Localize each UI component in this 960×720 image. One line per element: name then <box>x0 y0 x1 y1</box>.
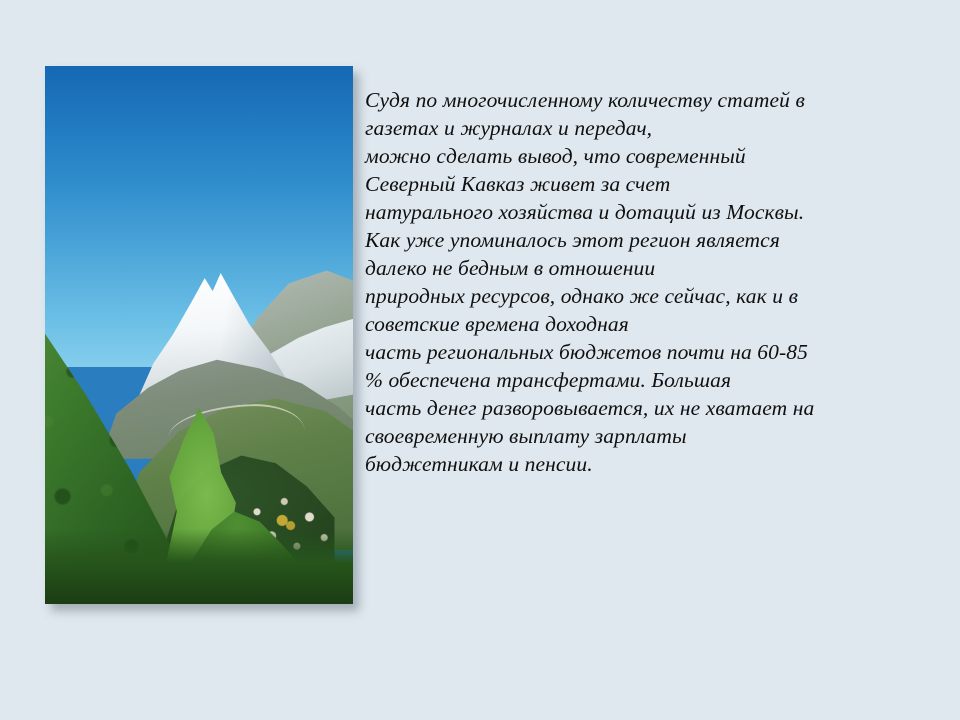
foreground-shadow <box>45 529 353 604</box>
text-line: своевременную выплату зарплаты <box>365 422 905 450</box>
text-line: Судя по многочисленному количеству стате… <box>365 86 905 114</box>
text-line: Северный Кавказ живет за счет <box>365 170 905 198</box>
text-line: Как уже упоминалось этот регион является <box>365 226 905 254</box>
text-line: природных ресурсов, однако же сейчас, ка… <box>365 282 905 310</box>
text-line: далеко не бедным в отношении <box>365 254 905 282</box>
photo-frame <box>45 66 353 604</box>
text-line: % обеспечена трансфертами. Большая <box>365 366 905 394</box>
text-line: бюджетникам и пенсии. <box>365 450 905 478</box>
text-line: советские времена доходная <box>365 310 905 338</box>
caucasus-mountain-valley-photo <box>45 66 353 604</box>
presentation-slide: Судя по многочисленному количеству стате… <box>0 0 960 720</box>
text-line: можно сделать вывод, что современный <box>365 142 905 170</box>
text-line: натурального хозяйства и дотаций из Моск… <box>365 198 905 226</box>
text-line: газетах и журналах и передач, <box>365 114 905 142</box>
text-line: часть региональных бюджетов почти на 60-… <box>365 338 905 366</box>
text-line: часть денег разворовывается, их не хвата… <box>365 394 905 422</box>
slide-body-text: Судя по многочисленному количеству стате… <box>365 86 905 478</box>
